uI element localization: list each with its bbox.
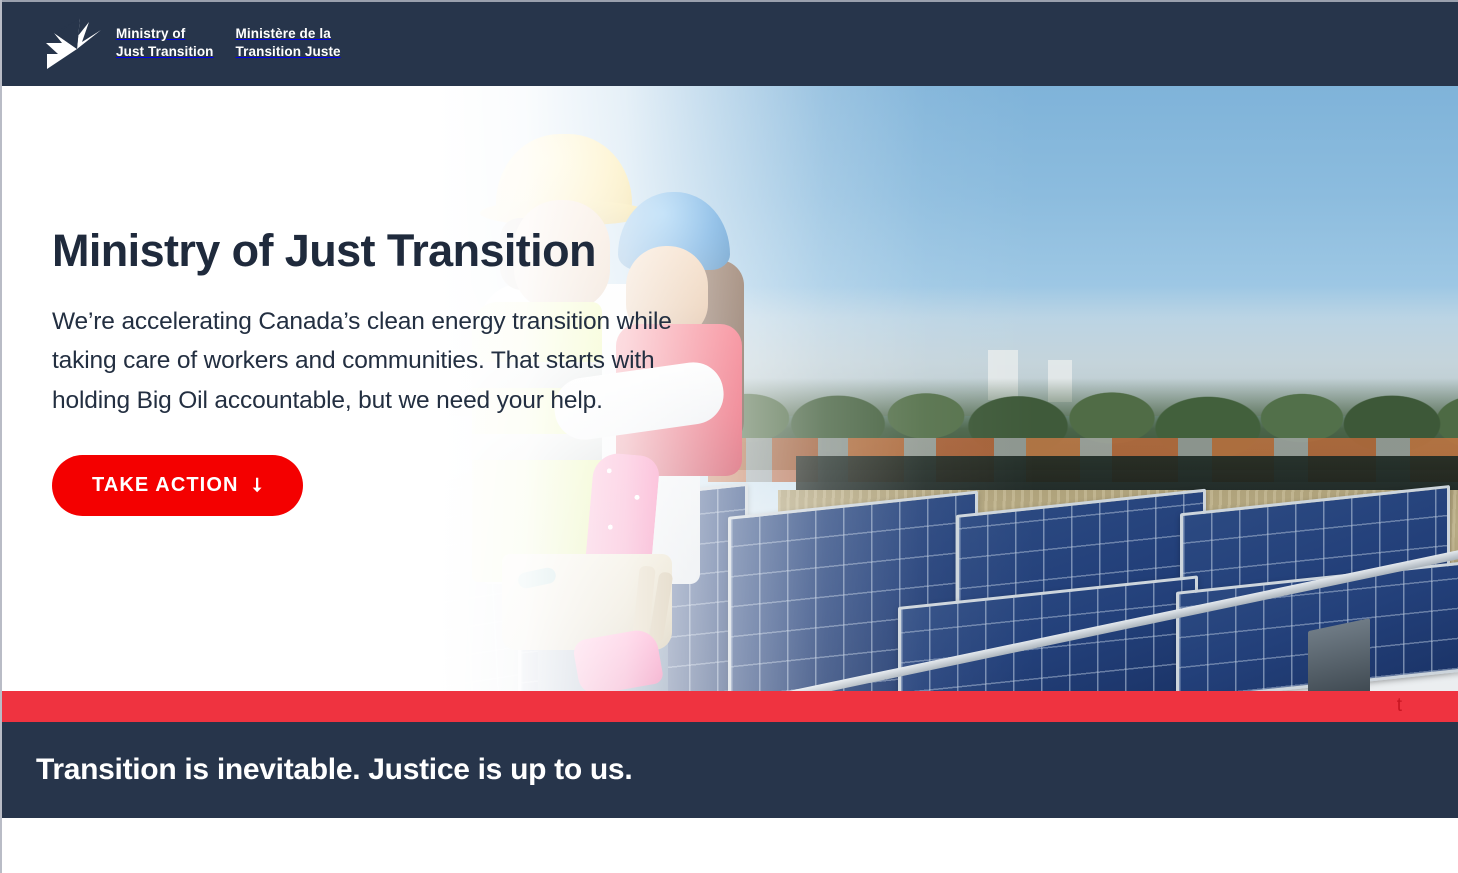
page-title: Ministry of Just Transition: [52, 226, 692, 276]
brand-fr-line1: Ministère de la: [236, 26, 331, 41]
brand-lockup-en: Ministry of Just Transition: [116, 25, 214, 61]
site-header: Ministry of Just Transition Ministère de…: [0, 0, 1458, 86]
window-top-edge: [0, 0, 1458, 2]
hero-copy: Ministry of Just Transition We’re accele…: [52, 226, 692, 516]
take-action-label: TAKE ACTION: [92, 474, 239, 497]
red-bar-mark: t: [1397, 693, 1402, 719]
red-divider-bar: t: [0, 691, 1458, 722]
page-root: Ministry of Just Transition Ministère de…: [0, 0, 1458, 873]
take-action-button[interactable]: TAKE ACTION ⭣: [52, 455, 303, 516]
window-left-edge: [0, 0, 2, 873]
tagline-text: Transition is inevitable. Justice is up …: [36, 753, 632, 787]
brand-lockup-fr: Ministère de la Transition Juste: [236, 25, 341, 61]
brand-wordmark: Ministry of Just Transition Ministère de…: [116, 25, 341, 61]
footer-whitespace: [0, 818, 1458, 873]
arrow-down-icon: ⭣: [253, 476, 263, 495]
hero-section: Ministry of Just Transition We’re accele…: [0, 86, 1458, 691]
hero-lede: We’re accelerating Canada’s clean energy…: [52, 302, 684, 421]
brand-en-line1: Ministry of: [116, 26, 185, 41]
brand-fr-line2: Transition Juste: [236, 44, 341, 59]
ministry-emblem-icon: [44, 16, 102, 70]
brand-en-line2: Just Transition: [116, 44, 214, 59]
tagline-banner: Transition is inevitable. Justice is up …: [0, 722, 1458, 818]
brand-home-link[interactable]: Ministry of Just Transition Ministère de…: [44, 16, 341, 70]
